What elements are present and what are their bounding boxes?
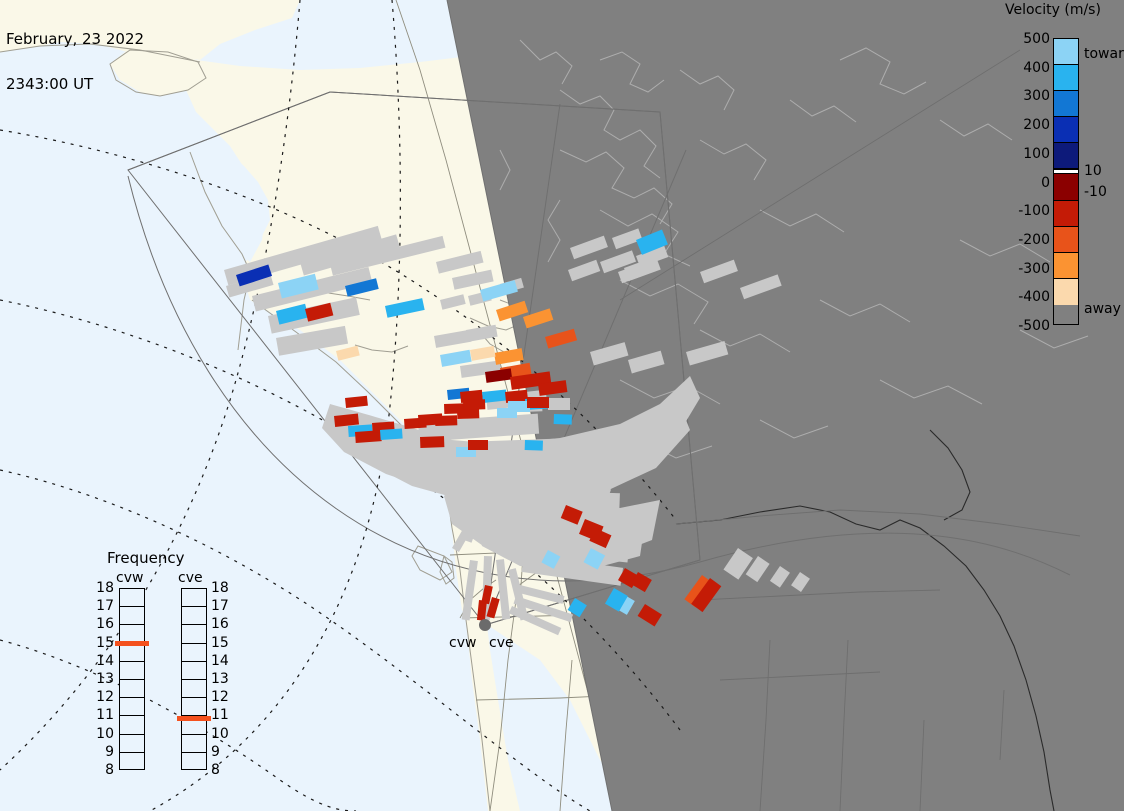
frequency-tick-right-15: 15 xyxy=(211,635,237,651)
frequency-cell xyxy=(182,589,206,607)
velocity-toward-label: toward xyxy=(1084,46,1124,62)
velocity-cell xyxy=(435,415,457,426)
frequency-cell xyxy=(120,644,144,662)
velocity-tick--500: -500 xyxy=(1002,318,1050,334)
velocity-tick-300: 300 xyxy=(1002,88,1050,104)
velocity-cell xyxy=(525,440,543,451)
velocity-cell xyxy=(380,428,403,440)
velocity-tick-400: 400 xyxy=(1002,60,1050,76)
frequency-cell xyxy=(120,680,144,698)
frequency-cell xyxy=(120,607,144,625)
frequency-tick-right-9: 9 xyxy=(211,744,237,760)
velocity-tick-100: 100 xyxy=(1002,146,1050,162)
frequency-cell xyxy=(182,680,206,698)
frequency-cell xyxy=(182,625,206,643)
velocity-color-seg-toward-3 xyxy=(1054,117,1078,143)
frequency-cell xyxy=(120,698,144,716)
frequency-tick-right-18: 18 xyxy=(211,580,237,596)
velocity-tick-0: 0 xyxy=(1002,175,1050,191)
velocity-cell xyxy=(527,397,549,408)
frequency-cell xyxy=(120,589,144,607)
frequency-tick-left-12: 12 xyxy=(88,689,114,705)
frequency-cell xyxy=(182,662,206,680)
frequency-tick-right-14: 14 xyxy=(211,653,237,669)
velocity-tick-500: 500 xyxy=(1002,31,1050,47)
velocity-tick--400: -400 xyxy=(1002,289,1050,305)
velocity-tick--300: -300 xyxy=(1002,261,1050,277)
velocity-colorbar xyxy=(1053,38,1079,325)
frequency-radar-name-cvw: cvw xyxy=(116,570,143,586)
date-text: February, 23 2022 xyxy=(6,32,144,47)
frequency-legend-title: Frequency xyxy=(107,549,185,567)
velocity-color-seg-toward-0 xyxy=(1054,39,1078,65)
frequency-tick-left-10: 10 xyxy=(88,726,114,742)
frequency-tick-left-8: 8 xyxy=(88,762,114,778)
velocity-color-seg-away-2 xyxy=(1054,227,1078,253)
frequency-bar-cve xyxy=(181,588,207,770)
velocity-cell xyxy=(468,440,488,450)
datetime-stamp: February, 23 2022 2343:00 UT xyxy=(6,2,144,122)
radar-site-marker xyxy=(479,619,491,631)
frequency-tick-right-8: 8 xyxy=(211,762,237,778)
frequency-cell xyxy=(120,753,144,771)
site-label-cve: cve xyxy=(489,635,514,651)
velocity-color-seg-away-3 xyxy=(1054,253,1078,279)
velocity-color-seg-away-4 xyxy=(1054,279,1078,305)
radar-fan-plot: February, 23 2022 2343:00 UT Velocity (m… xyxy=(0,0,1124,811)
frequency-tick-right-13: 13 xyxy=(211,671,237,687)
frequency-tick-left-14: 14 xyxy=(88,653,114,669)
velocity-color-seg-toward-2 xyxy=(1054,91,1078,117)
velocity-cell xyxy=(457,408,479,419)
velocity-cell xyxy=(508,401,530,412)
velocity-positive-threshold-label: 10 xyxy=(1084,163,1102,179)
frequency-tick-left-17: 17 xyxy=(88,598,114,614)
velocity-cell xyxy=(505,390,528,403)
frequency-tick-right-10: 10 xyxy=(211,726,237,742)
frequency-radar-name-cve: cve xyxy=(178,570,203,586)
velocity-tick-200: 200 xyxy=(1002,117,1050,133)
map-layer xyxy=(0,0,1124,811)
frequency-cell xyxy=(182,644,206,662)
frequency-cell xyxy=(182,753,206,771)
velocity-tick--100: -100 xyxy=(1002,203,1050,219)
frequency-marker-cve xyxy=(177,716,211,721)
frequency-cell xyxy=(120,735,144,753)
velocity-tick--200: -200 xyxy=(1002,232,1050,248)
velocity-negative-threshold-label: -10 xyxy=(1084,184,1107,200)
frequency-cell xyxy=(182,698,206,716)
frequency-cell xyxy=(120,716,144,734)
velocity-away-label: away xyxy=(1084,301,1121,317)
velocity-tick-labels: 5004003002001000-100-200-300-400-500 xyxy=(1000,0,1050,360)
frequency-ticks-left: 18171615141312111098 xyxy=(88,580,114,780)
frequency-tick-left-11: 11 xyxy=(88,707,114,723)
velocity-color-seg-toward-4 xyxy=(1054,143,1078,169)
frequency-tick-right-16: 16 xyxy=(211,616,237,632)
frequency-cell xyxy=(120,662,144,680)
frequency-ticks-right: 18171615141312111098 xyxy=(211,580,237,780)
site-label-cvw: cvw xyxy=(449,635,476,651)
frequency-tick-right-11: 11 xyxy=(211,707,237,723)
frequency-marker-cvw xyxy=(115,641,149,646)
frequency-tick-left-18: 18 xyxy=(88,580,114,596)
frequency-cell xyxy=(182,607,206,625)
velocity-cell xyxy=(420,436,444,448)
frequency-tick-left-9: 9 xyxy=(88,744,114,760)
velocity-color-seg-away-1 xyxy=(1054,201,1078,227)
velocity-color-seg-away-0 xyxy=(1054,174,1078,200)
frequency-tick-left-15: 15 xyxy=(88,635,114,651)
velocity-cell xyxy=(554,414,572,425)
frequency-tick-left-13: 13 xyxy=(88,671,114,687)
frequency-tick-right-17: 17 xyxy=(211,598,237,614)
time-text: 2343:00 UT xyxy=(6,77,144,92)
velocity-color-seg-toward-1 xyxy=(1054,65,1078,91)
frequency-tick-left-16: 16 xyxy=(88,616,114,632)
frequency-cell xyxy=(182,735,206,753)
frequency-tick-right-12: 12 xyxy=(211,689,237,705)
frequency-bar-cvw xyxy=(119,588,145,770)
velocity-cell xyxy=(463,399,485,410)
